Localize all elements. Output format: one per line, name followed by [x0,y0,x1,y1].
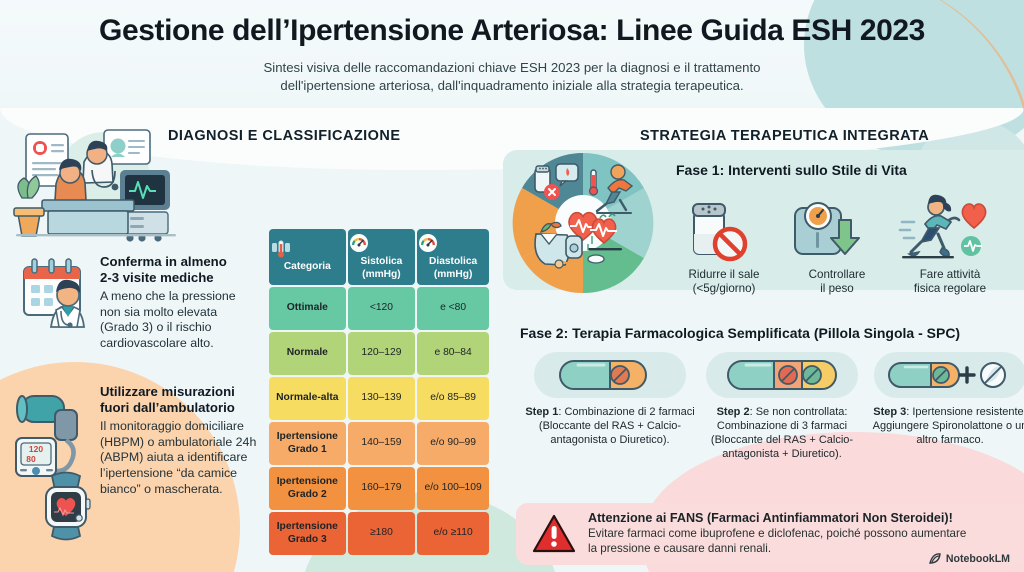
fase2-step-2: Step 2: Se non controllata: Combinazione… [696,352,868,461]
lifestyle-weight-line-1: Controllare [809,268,866,281]
table-row: Normale 120–129 e 80–84 [269,332,489,375]
header: Gestione dell’Ipertensione Arteriosa: Li… [0,14,1024,95]
lifestyle-exercise-line-2: fisica regolare [914,282,986,295]
diagnosis-point-2-title: Utilizzare misurazioni fuori dall’ambula… [100,384,260,416]
table-cell-systolic: ≥180 [348,512,416,555]
table-header-diastolic: Diastolica (mmHg) [417,229,489,285]
table-cell-category-line-2: Grado 2 [288,489,327,500]
diagnosis-point-2-body: Il monitoraggio domiciliare (HBPM) o amb… [100,419,260,497]
table-header-diastolic-line-2: (mmHg) [434,269,472,280]
table-cell-systolic: <120 [348,287,416,330]
table-cell-category: Ipertensione Grado 2 [269,467,346,510]
capsule-plus-tablet-icon [874,352,1024,398]
table-row: Ipertensione Grado 2 160–179 e/o 100–109 [269,467,489,510]
running-person-heart-icon [898,194,988,266]
table-cell-diastolic: e/o 90–99 [417,422,489,465]
table-header-systolic: Sistolica (mmHg) [348,229,416,285]
lifestyle-salt-line-2: (<5g/giorno) [693,282,756,295]
fase2-step-3-label: Step 3 [873,406,906,418]
table-header-category-label: Categoria [284,261,331,272]
table-cell-category: Normale-alta [269,377,346,420]
weight-scale-arrow-down-icon [785,194,865,266]
fase2-step-1: Step 1: Combinazione di 2 farmaci (Blocc… [524,352,696,447]
table-cell-category: Normale [269,332,346,375]
fase1-title: Fase 1: Interventi sullo Stile di Vita [676,162,907,178]
table-cell-systolic: 140–159 [348,422,416,465]
table-cell-diastolic: e/o ≥110 [417,512,489,555]
warning-body: Evitare farmaci come ibuprofene e diclof… [588,527,966,556]
fase2-step-1-text: Step 1: Combinazione di 2 farmaci (Blocc… [524,405,696,447]
table-cell-category: Ottimale [269,287,346,330]
warning-text: Attenzione ai FANS (Farmaci Antinfiammat… [588,511,966,556]
table-cell-category-line-2: Grado 1 [288,444,327,455]
diagnosis-point-1-title: Conferma in almeno 2-3 visite mediche [100,254,255,286]
lifestyle-salt-line-1: Ridurre il sale [689,268,760,281]
doctor-consultation-illustration [12,126,192,244]
table-cell-category: Ipertensione Grado 3 [269,512,346,555]
capsule-two-drug-icon [534,352,686,398]
table-cell-category-line-2: Grado 3 [288,534,327,545]
table-header-category: Categoria [269,229,346,285]
calendar-doctor-icon [18,255,90,327]
svg-text:80: 80 [26,454,36,464]
fase2-title: Fase 2: Terapia Farmacologica Semplifica… [520,325,960,341]
gauge-icon-2 [418,233,488,253]
table-cell-systolic: 120–129 [348,332,416,375]
table-row: Ipertensione Grado 3 ≥180 e/o ≥110 [269,512,489,555]
table-cell-category-line-1: Ipertensione [277,521,338,532]
table-cell-systolic: 160–179 [348,467,416,510]
diagnosis-point-2-title-line-1: Utilizzare misurazioni [100,384,235,399]
diagnosis-point-2: Utilizzare misurazioni fuori dall’ambula… [100,384,260,497]
table-cell-diastolic: e/o 85–89 [417,377,489,420]
warning-title: Attenzione ai FANS (Farmaci Antinfiammat… [588,511,966,525]
lifestyle-exercise-line-1: Fare attività [920,268,981,281]
fase2-step-3: Step 3: Ipertensione resistente: Aggiung… [864,352,1024,447]
table-row: Normale-alta 130–139 e/o 85–89 [269,377,489,420]
page-subtitle: Sintesi visiva delle raccomandazioni chi… [0,59,1024,95]
page-subtitle-line-1: Sintesi visiva delle raccomandazioni chi… [0,59,1024,77]
smartwatch-heart-icon [32,470,102,542]
page-subtitle-line-2: dell'ipertensione arteriosa, dall'inquad… [0,77,1024,95]
table-cell-category: Ipertensione Grado 1 [269,422,346,465]
lifestyle-item-exercise-label: Fare attività fisica regolare [898,268,1002,297]
lifestyle-weight-line-2: il peso [820,282,854,295]
diagnosis-point-1-body: A meno che la pressione non sia molto el… [100,289,255,352]
table-row: Ipertensione Grado 1 140–159 e/o 90–99 [269,422,489,465]
lifestyle-item-weight: Controllare il peso [785,194,889,297]
table-cell-systolic: 130–139 [348,377,416,420]
table-cell-diastolic: e 80–84 [417,332,489,375]
table-header-systolic-line-1: Sistolica [360,256,402,267]
table-row: Ottimale <120 e <80 [269,287,489,330]
gauge-icon [349,233,415,253]
table-header-row: Categoria Sistolica (mmH [269,229,489,285]
thermometer-icon [270,240,345,258]
table-cell-diastolic: e/o 100–109 [417,467,489,510]
svg-text:120: 120 [29,444,43,454]
lifestyle-item-salt-label: Ridurre il sale (<5g/giorno) [672,268,776,297]
fase2-step-1-body: : Combinazione di 2 farmaci (Bloccante d… [539,406,695,446]
lifestyle-item-weight-label: Controllare il peso [785,268,889,297]
table-header-systolic-line-2: (mmHg) [362,269,400,280]
diagnosis-point-1: Conferma in almeno 2-3 visite mediche A … [100,254,255,352]
notebooklm-label: NotebookLM [946,553,1010,565]
diagnosis-point-2-title-line-2: fuori dall’ambulatorio [100,400,235,415]
salt-shaker-forbidden-icon [672,194,752,266]
table-cell-diastolic: e <80 [417,287,489,330]
section-heading-strategy: STRATEGIA TERAPEUTICA INTEGRATA [640,128,929,144]
lifestyle-item-salt: Ridurre il sale (<5g/giorno) [672,194,776,297]
diagnosis-point-1-title-line-1: Conferma in almeno [100,254,227,269]
fase2-step-3-text: Step 3: Ipertensione resistente: Aggiung… [864,405,1024,447]
table-cell-category-line-1: Ipertensione [277,431,338,442]
lifestyle-wheel-illustration [508,148,658,298]
notebooklm-branding: NotebookLM [929,552,1010,565]
notebooklm-icon [929,552,942,565]
fase2-step-2-label: Step 2 [717,406,750,418]
fase2-step-1-label: Step 1 [525,406,558,418]
warning-body-line-2: la pressione e causare danni renali. [588,542,771,555]
bp-classification-table: Categoria Sistolica (mmH [267,227,491,557]
warning-body-line-1: Evitare farmaci come ibuprofene e diclof… [588,527,966,540]
lifestyle-item-exercise: Fare attività fisica regolare [898,194,1002,297]
section-heading-diagnosis: DIAGNOSI E CLASSIFICAZIONE [168,128,400,144]
diagnosis-point-1-title-line-2: 2-3 visite mediche [100,270,214,285]
fase2-step-2-text: Step 2: Se non controllata: Combinazione… [696,405,868,461]
infographic-canvas: Gestione dell’Ipertensione Arteriosa: Li… [0,0,1024,572]
capsule-three-drug-icon [706,352,858,398]
page-title: Gestione dell’Ipertensione Arteriosa: Li… [0,14,1024,48]
warning-triangle-icon [532,514,576,554]
table-cell-category-line-1: Ipertensione [277,476,338,487]
table-header-diastolic-line-1: Diastolica [429,256,477,267]
